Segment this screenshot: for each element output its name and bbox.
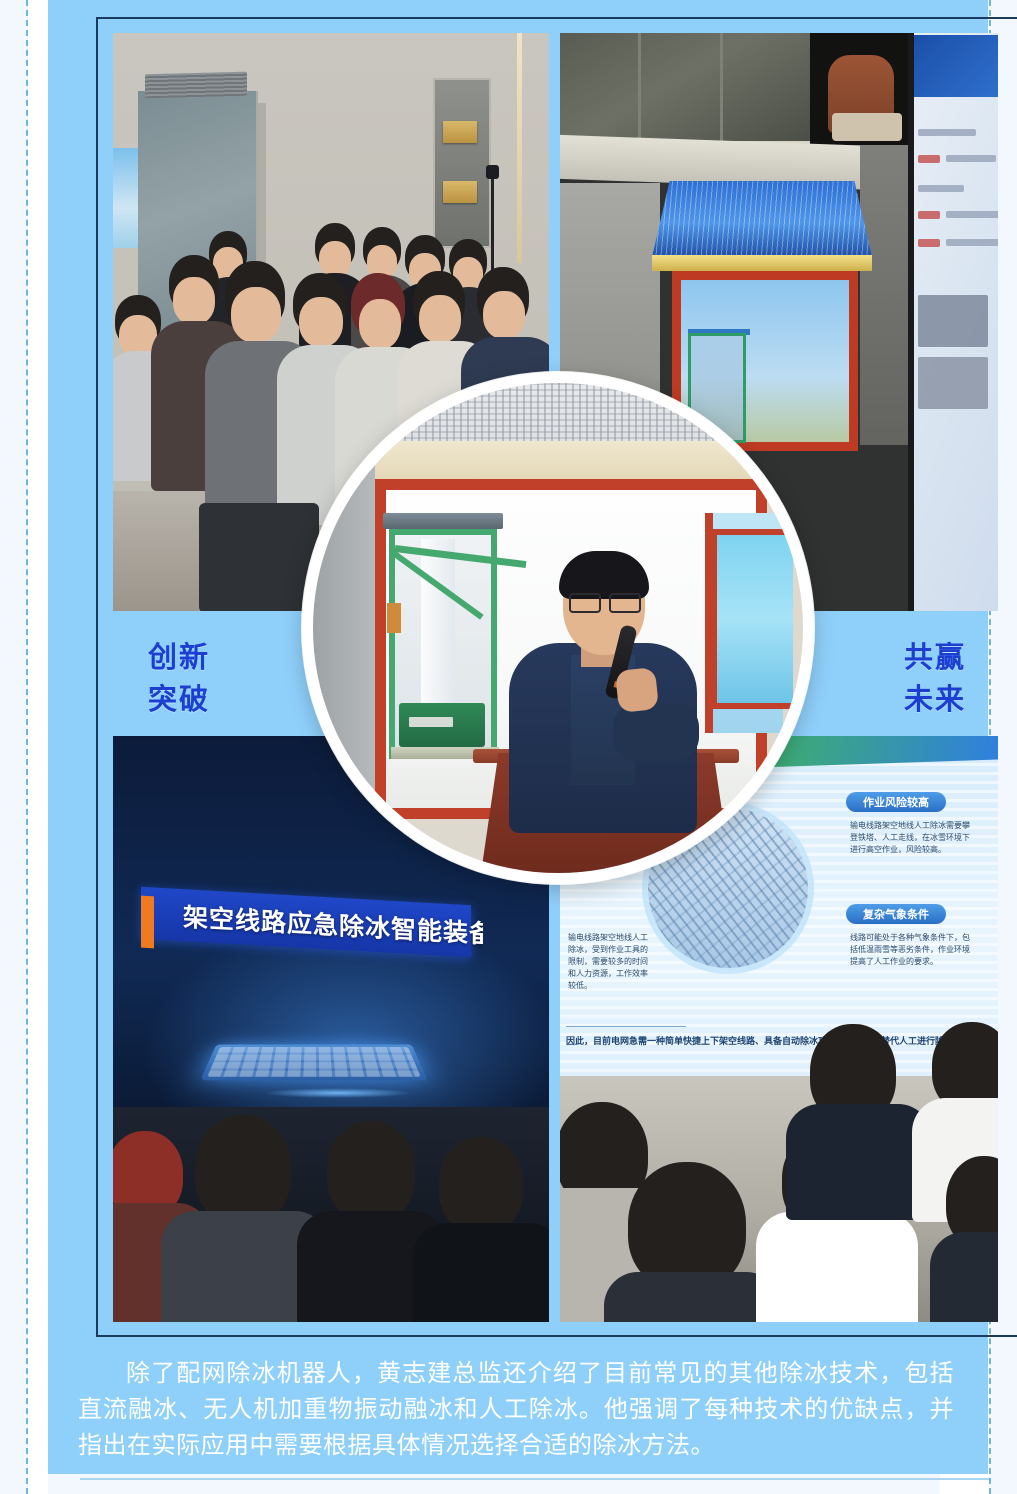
- light-strip: [517, 33, 522, 263]
- audience-backs: [560, 1076, 998, 1322]
- display-text-line: [918, 129, 976, 136]
- speaker-figure: [509, 551, 697, 831]
- chair-back: [199, 503, 319, 611]
- left-wall: [313, 383, 375, 873]
- display-text-line: [918, 185, 964, 192]
- slide-pill-weather: 复杂气象条件: [846, 904, 946, 924]
- left-white-gutter: [28, 0, 48, 1494]
- audience-body: [413, 1223, 549, 1322]
- screen-glow: [263, 1088, 413, 1098]
- yellow-light-band: [652, 255, 872, 271]
- blue-content-card: 架空线路应急除冰智能装备: [48, 0, 988, 1474]
- robot-top-rail: [383, 513, 503, 529]
- robot-column: [421, 539, 455, 709]
- glass-mullion: [638, 33, 641, 145]
- slogan-left: 创新 突破: [148, 637, 210, 721]
- audience-body: [604, 1272, 780, 1322]
- audience-face: [173, 277, 215, 325]
- slide-pill-risk: 作业风险较高: [846, 792, 946, 812]
- blue-led-canopy: [652, 181, 872, 257]
- display-text-line: [946, 211, 998, 218]
- display-image-block: [918, 357, 988, 409]
- slide-paragraph-left: 输电线路架空地线人工除冰，受到作业工具的限制，需要较多的时间和人力资源，工作效率…: [568, 932, 650, 992]
- award-plaque: [443, 121, 477, 143]
- slide-paragraph-weather: 线路可能处于各种气象条件下，包括低温雨雪等恶劣条件，作业环境提高了人工作业的要求…: [850, 932, 970, 968]
- display-red-marker: [918, 211, 940, 219]
- display-text-line: [946, 239, 998, 246]
- screen-banner-accent: [141, 896, 154, 949]
- hero-photo-clip: [313, 383, 803, 873]
- audience-silhouettes: [113, 1107, 549, 1322]
- audience-face: [359, 299, 401, 349]
- virtual-keyboard-graphic: [200, 1044, 427, 1080]
- audience-body: [756, 1212, 918, 1322]
- slogan-right: 共赢 未来: [904, 637, 966, 721]
- ceiling-soffit: [313, 441, 803, 483]
- glass-balustrade: [560, 33, 810, 145]
- robot-orange-part: [387, 603, 401, 633]
- hero-circular-photo: [302, 372, 814, 884]
- deicing-robot-model: [389, 529, 497, 759]
- audience-face: [231, 287, 281, 343]
- slide-footer-conclusion: 因此，目前电网急需一种简单快捷上下架空线路、具备自动除冰功能的智能装置替代人工进…: [566, 1034, 986, 1048]
- display-wall-header: [914, 35, 998, 97]
- article-page: 架空线路应急除冰智能装备: [0, 0, 1017, 1494]
- display-red-marker: [918, 239, 940, 247]
- right-column: [860, 145, 908, 445]
- keyboard-keys: [207, 1047, 420, 1077]
- audience-head: [439, 1137, 523, 1233]
- glass-mullion: [720, 33, 723, 145]
- audience-body: [930, 1232, 998, 1322]
- display-red-marker: [918, 155, 940, 163]
- audience-face: [319, 241, 351, 277]
- display-text-line: [946, 155, 996, 162]
- audience-face: [483, 291, 525, 339]
- slide-paragraph-risk: 输电线路架空地线人工除冰需要攀登铁塔、人工走线，在冰雪环境下进行高空作业，风险较…: [850, 820, 970, 856]
- audience-body: [786, 1104, 932, 1220]
- air-vent-icon: [145, 72, 247, 99]
- audience-head: [628, 1162, 746, 1290]
- ceiling-panel: [313, 383, 803, 445]
- window-sky: [113, 148, 140, 248]
- wall-niche: [433, 78, 491, 248]
- audience-head: [195, 1115, 291, 1225]
- speaker-hair: [559, 551, 649, 599]
- bottom-divider: [80, 1478, 989, 1480]
- audience-face: [419, 295, 461, 343]
- lounge-chair-seat: [832, 113, 902, 141]
- speaker-hand: [615, 667, 659, 713]
- caption-text: 除了配网除冰机器人，黄志建总监还介绍了目前常见的其他除冰技术，包括直流融冰、无人…: [78, 1356, 954, 1464]
- robot-label: [409, 717, 453, 727]
- audience-face: [299, 297, 343, 347]
- slogan-left-line2: 突破: [148, 679, 210, 721]
- side-monitor: [711, 529, 793, 709]
- slogan-left-line1: 创新: [148, 637, 210, 679]
- slogan-right-line1: 共赢: [904, 637, 966, 679]
- speaker-arm: [613, 703, 699, 761]
- audience-head: [327, 1121, 415, 1221]
- glasses-icon: [569, 593, 641, 609]
- display-image-block: [918, 295, 988, 347]
- award-plaque: [443, 181, 477, 203]
- slide-divider: [566, 1026, 686, 1027]
- caption-box: 除了配网除冰机器人，黄志建总监还介绍了目前常见的其他除冰技术，包括直流融冰、无人…: [48, 1348, 988, 1466]
- slogan-right-line2: 未来: [904, 679, 966, 721]
